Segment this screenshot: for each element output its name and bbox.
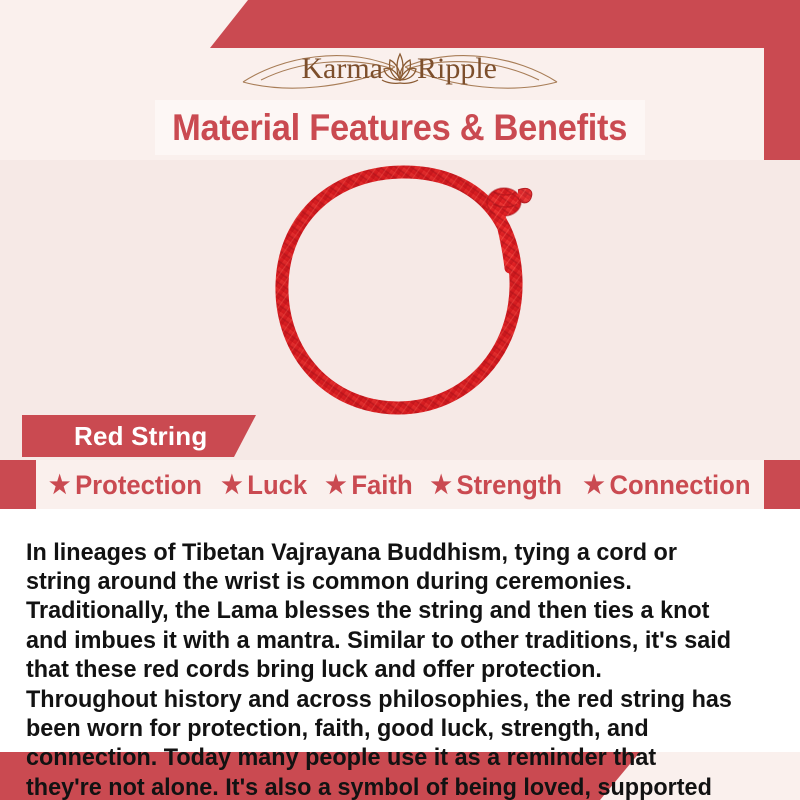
brand-name-right: Ripple (417, 52, 497, 85)
star-icon: ★ (583, 473, 604, 498)
star-icon: ★ (325, 473, 346, 498)
feature-label: Luck (247, 470, 307, 501)
star-icon: ★ (49, 473, 70, 498)
page-title-band: Material Features & Benefits (155, 100, 645, 155)
description-panel: In lineages of Tibetan Vajrayana Buddhis… (0, 509, 800, 752)
feature-label: Strength (457, 470, 562, 501)
feature-item-protection: ★ Protection (49, 470, 202, 501)
material-name: Red String (22, 421, 207, 452)
feature-item-luck: ★ Luck (221, 470, 307, 501)
page-title: Material Features & Benefits (173, 107, 628, 149)
feature-label: Connection (609, 470, 750, 501)
lotus-icon: Karma Ripple (235, 36, 565, 98)
brand-name-left: Karma (301, 52, 383, 85)
feature-item-faith: ★ Faith (325, 470, 412, 501)
description-text: In lineages of Tibetan Vajrayana Buddhis… (26, 538, 737, 800)
brand-logo: Karma Ripple (0, 36, 800, 98)
feature-item-connection: ★ Connection (583, 470, 750, 501)
feature-list: ★ Protection ★ Luck ★ Faith ★ Strength ★… (36, 462, 764, 508)
header: Karma Ripple Material Features & Benefit… (0, 0, 800, 160)
infographic-page: Karma Ripple Material Features & Benefit… (0, 0, 800, 800)
star-icon: ★ (431, 473, 452, 498)
star-icon: ★ (221, 473, 242, 498)
feature-item-strength: ★ Strength (431, 470, 563, 501)
red-string-bracelet-image (232, 160, 568, 446)
material-banner: Red String (22, 415, 256, 457)
feature-label: Protection (75, 470, 202, 501)
feature-label: Faith (351, 470, 412, 501)
